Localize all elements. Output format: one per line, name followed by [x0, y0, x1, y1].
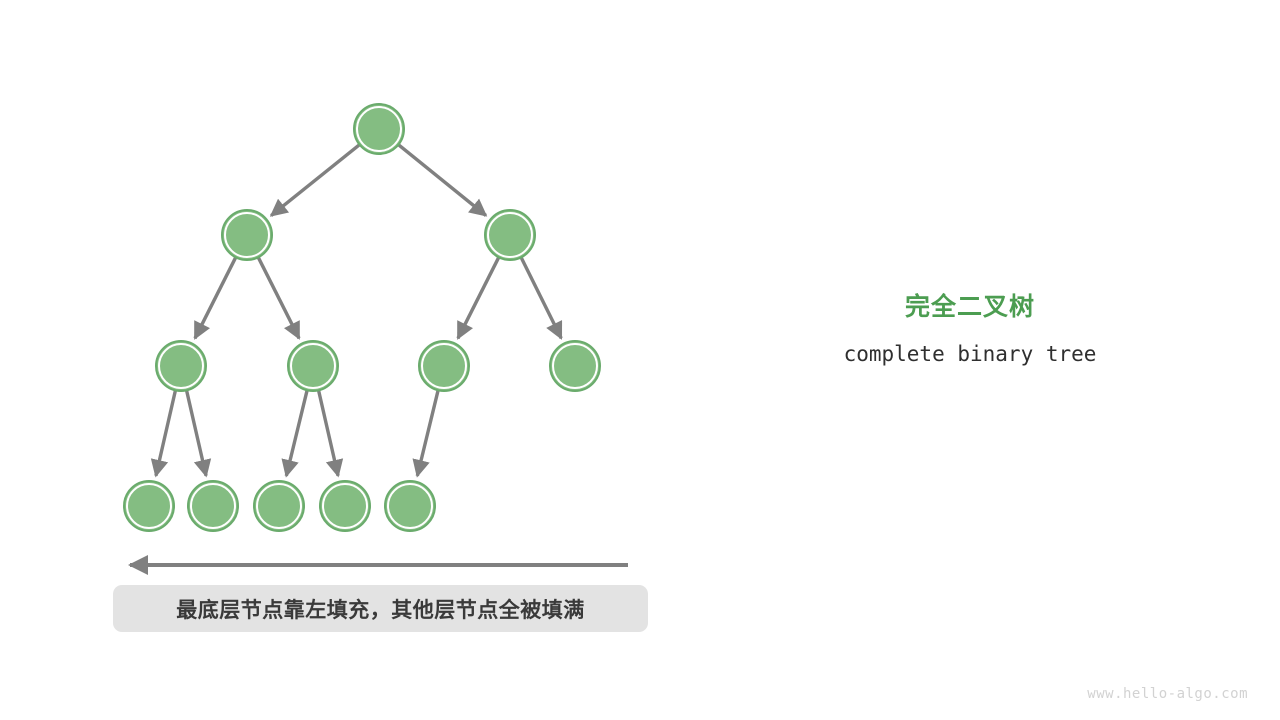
title-chinese: 完全二叉树 [760, 290, 1180, 324]
tree-edge [156, 390, 176, 475]
tree-node [288, 341, 338, 391]
tree-node-inner-ring [159, 344, 203, 388]
tree-node [124, 481, 174, 531]
tree-node [222, 210, 272, 260]
tree-edge [398, 145, 485, 216]
tree-node-inner-ring [191, 484, 235, 528]
caption-text: 最底层节点靠左填充，其他层节点全被填满 [176, 594, 585, 624]
tree-node-inner-ring [127, 484, 171, 528]
tree-node [254, 481, 304, 531]
tree-node [385, 481, 435, 531]
tree-node [485, 210, 535, 260]
title-english: complete binary tree [760, 339, 1180, 369]
tree-node [320, 481, 370, 531]
tree-edge [319, 390, 339, 475]
tree-node-inner-ring [422, 344, 466, 388]
tree-edge [458, 257, 499, 338]
tree-node [354, 104, 404, 154]
tree-node [156, 341, 206, 391]
caption-box: 最底层节点靠左填充，其他层节点全被填满 [113, 585, 648, 632]
tree-nodes [124, 104, 600, 531]
watermark: www.hello-algo.com [1087, 686, 1248, 702]
tree-node-inner-ring [357, 107, 401, 151]
tree-edge [521, 257, 561, 338]
tree-node [419, 341, 469, 391]
tree-edge [258, 257, 299, 338]
tree-node-inner-ring [291, 344, 335, 388]
tree-edge [271, 145, 359, 216]
tree-edges [156, 145, 561, 476]
tree-node-inner-ring [388, 484, 432, 528]
tree-edge [286, 390, 307, 476]
tree-edge [417, 390, 438, 476]
tree-node-inner-ring [488, 213, 532, 257]
tree-node-inner-ring [225, 213, 269, 257]
tree-node-inner-ring [323, 484, 367, 528]
tree-edge [195, 257, 236, 338]
tree-node-inner-ring [257, 484, 301, 528]
tree-node-inner-ring [553, 344, 597, 388]
tree-node [550, 341, 600, 391]
legend-label: 完全二叉树 complete binary tree [760, 290, 1180, 369]
tree-edge [187, 390, 207, 475]
tree-node [188, 481, 238, 531]
